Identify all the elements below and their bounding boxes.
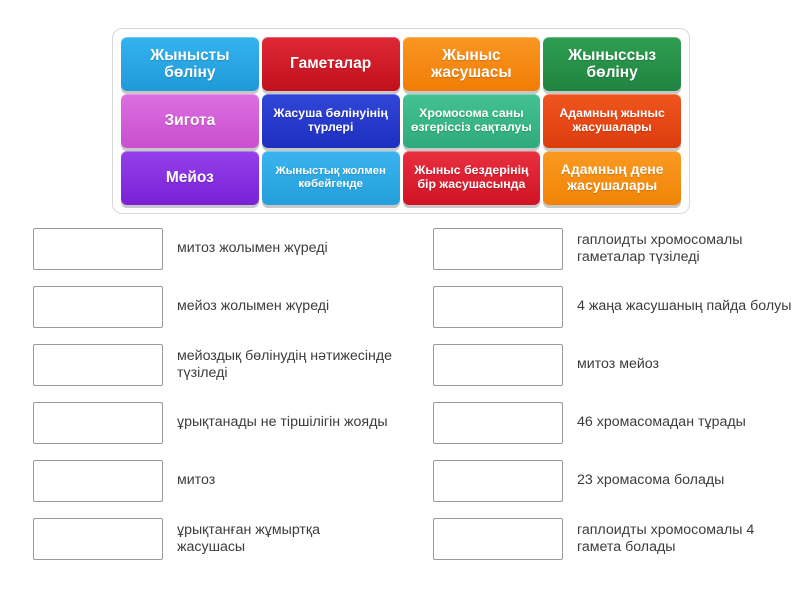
tile-label: Жыныс бездерінің бір жасушасында — [407, 164, 537, 192]
answer-label: гаплоидты хромосомалы 4 гамета болады — [577, 522, 792, 557]
tile-zhasusha-bolinui[interactable]: Жасуша бөлінуінің түрлері — [262, 94, 400, 148]
drop-slot[interactable] — [33, 286, 163, 328]
answer-row: митоз жолымен жүреді — [33, 228, 400, 270]
tile-row: Мейоз Жыныстық жолмен көбейгенде Жыныс б… — [121, 151, 681, 205]
answer-column-left: митоз жолымен жүреді мейоз жолымен жүред… — [0, 228, 400, 578]
answer-label: митоз жолымен жүреді — [177, 240, 328, 257]
tile-row: Жынысты бөліну Гаметалар Жыныс жасушасы … — [121, 37, 681, 91]
answer-label: мейоздық бөлінудің нәтижесінде түзіледі — [177, 348, 392, 383]
answer-label: 46 хромасомадан тұрады — [577, 414, 746, 431]
drop-slot[interactable] — [433, 286, 563, 328]
tile-zhynysty-bolinu[interactable]: Жынысты бөліну — [121, 37, 259, 91]
answer-label: 23 хромасома болады — [577, 472, 724, 489]
answer-row: гаплоидты хромосомалы 4 гамета болады — [433, 518, 800, 560]
matching-activity-screen: Жынысты бөліну Гаметалар Жыныс жасушасы … — [0, 0, 800, 600]
tile-label: Адамның жыныс жасушалары — [547, 107, 677, 135]
answer-row: 46 хромасомадан тұрады — [433, 402, 800, 444]
answer-row: ұрықтанған жұмыртқа жасушасы — [33, 518, 400, 560]
drop-slot[interactable] — [433, 228, 563, 270]
tile-tray: Жынысты бөліну Гаметалар Жыныс жасушасы … — [112, 28, 690, 214]
drop-slot[interactable] — [33, 228, 163, 270]
answer-row: гаплоидты хромосомалы гаметалар түзіледі — [433, 228, 800, 270]
drop-slot[interactable] — [433, 402, 563, 444]
tile-meioz[interactable]: Мейоз — [121, 151, 259, 205]
drop-slot[interactable] — [33, 460, 163, 502]
tile-adamnyn-zhynys[interactable]: Адамның жыныс жасушалары — [543, 94, 681, 148]
tile-label: Гаметалар — [290, 55, 371, 72]
answer-row: ұрықтанады не тіршілігін жояды — [33, 402, 400, 444]
answer-area: митоз жолымен жүреді мейоз жолымен жүред… — [0, 228, 800, 578]
answer-column-right: гаплоидты хромосомалы гаметалар түзіледі… — [400, 228, 800, 578]
tile-label: Хромосома саны өзгеріссіз сақталуы — [407, 107, 537, 135]
answer-label: митоз — [177, 472, 215, 489]
tile-row: Зигота Жасуша бөлінуінің түрлері Хромосо… — [121, 94, 681, 148]
answer-label: гаплоидты хромосомалы гаметалар түзіледі — [577, 232, 792, 267]
tile-label: Адамның дене жасушалары — [547, 162, 677, 193]
tile-zhynyssyz-bolinu[interactable]: Жыныссыз бөліну — [543, 37, 681, 91]
answer-row: митоз мейоз — [433, 344, 800, 386]
tile-label: Жасуша бөлінуінің түрлері — [266, 107, 396, 135]
tile-label: Зигота — [164, 112, 215, 129]
tile-zigota[interactable]: Зигота — [121, 94, 259, 148]
drop-slot[interactable] — [33, 402, 163, 444]
tile-zhynys-bezderinin[interactable]: Жыныс бездерінің бір жасушасында — [403, 151, 541, 205]
tile-label: Жыныссыз бөліну — [547, 47, 677, 82]
answer-row: 23 хромасома болады — [433, 460, 800, 502]
tile-adamnyn-dene[interactable]: Адамның дене жасушалары — [543, 151, 681, 205]
drop-slot[interactable] — [33, 518, 163, 560]
drop-slot[interactable] — [433, 460, 563, 502]
answer-label: митоз мейоз — [577, 356, 659, 373]
answer-label: ұрықтанған жұмыртқа жасушасы — [177, 522, 392, 557]
answer-label: 4 жаңа жасушаның пайда болуы — [577, 298, 791, 315]
drop-slot[interactable] — [33, 344, 163, 386]
answer-label: ұрықтанады не тіршілігін жояды — [177, 414, 388, 431]
answer-row: мейоз жолымен жүреді — [33, 286, 400, 328]
tile-label: Жынысты бөліну — [125, 47, 255, 82]
tile-label: Жыныс жасушасы — [407, 47, 537, 82]
tile-gametalar[interactable]: Гаметалар — [262, 37, 400, 91]
tile-label: Мейоз — [166, 169, 214, 186]
tile-zhynys-zhasushasy[interactable]: Жыныс жасушасы — [403, 37, 541, 91]
tile-hromosoma-sany[interactable]: Хромосома саны өзгеріссіз сақталуы — [403, 94, 541, 148]
answer-row: 4 жаңа жасушаның пайда болуы — [433, 286, 800, 328]
answer-label: мейоз жолымен жүреді — [177, 298, 329, 315]
answer-row: мейоздық бөлінудің нәтижесінде түзіледі — [33, 344, 400, 386]
drop-slot[interactable] — [433, 518, 563, 560]
tile-zhynystyk-zholmen[interactable]: Жыныстық жолмен көбейгенде — [262, 151, 400, 205]
drop-slot[interactable] — [433, 344, 563, 386]
tile-label: Жыныстық жолмен көбейгенде — [266, 165, 396, 191]
answer-row: митоз — [33, 460, 400, 502]
